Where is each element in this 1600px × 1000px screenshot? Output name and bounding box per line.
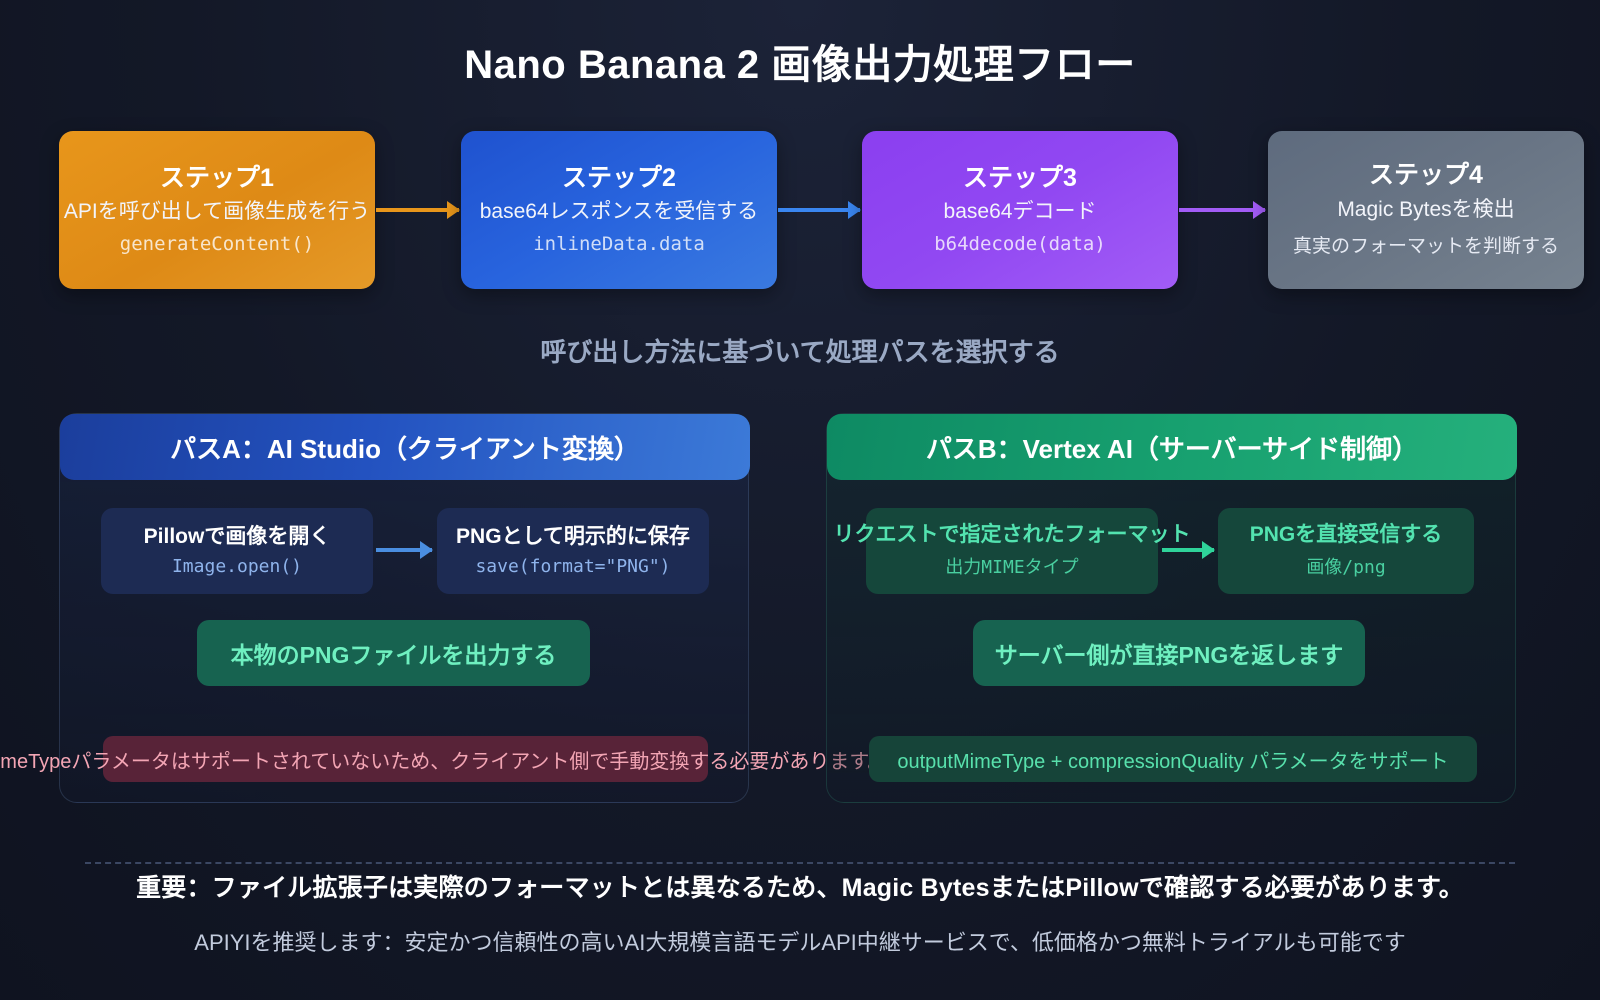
path-a-output-badge: 本物のPNGファイルを出力する (197, 620, 590, 686)
path-a-header: パスA：AI Studio（クライアント変換） (60, 414, 750, 480)
path-a-warning-text: outputMimeTypeパラメータはサポートされていないため、クライアント側… (0, 745, 887, 774)
page-title: Nano Banana 2 画像出力処理フロー (0, 32, 1600, 90)
path-a-box-2[interactable]: PNGとして明示的に保存 save(format="PNG") (437, 508, 709, 594)
footer-important-note: 重要：ファイル拡張子は実際のフォーマットとは異なるため、Magic Bytesま… (0, 868, 1600, 904)
path-b-box-2[interactable]: PNGを直接受信する 画像/png (1218, 508, 1474, 594)
arrow-step1-to-step2 (376, 208, 459, 212)
path-b-box-2-code: 画像/png (1306, 553, 1385, 579)
path-b-output-badge: サーバー側が直接PNGを返します (973, 620, 1365, 686)
arrow-step3-to-step4 (1179, 208, 1265, 212)
step-3-code: b64decode(data) (934, 233, 1106, 255)
path-b-support-note: outputMimeType + compressionQuality パラメー… (869, 736, 1477, 782)
path-b-panel: パスB：Vertex AI（サーバーサイド制御） リクエストで指定されたフォーマ… (826, 413, 1516, 803)
path-a-panel: パスA：AI Studio（クライアント変換） Pillowで画像を開く Ima… (59, 413, 749, 803)
path-a-box-1[interactable]: Pillowで画像を開く Image.open() (101, 508, 373, 594)
path-b-box-1-code: 出力MIMEタイプ (945, 553, 1078, 579)
branch-caption: 呼び出し方法に基づいて処理パスを選択する (0, 332, 1600, 369)
step-4-note: 真実のフォーマットを判断する (1293, 231, 1559, 258)
arrow-step2-to-step3 (778, 208, 860, 212)
footer-divider (85, 862, 1515, 864)
path-b-header: パスB：Vertex AI（サーバーサイド制御） (827, 414, 1517, 480)
step-2-title: ステップ2 (562, 165, 676, 193)
path-b-box-1[interactable]: リクエストで指定されたフォーマット 出力MIMEタイプ (866, 508, 1158, 594)
step-card-3[interactable]: ステップ3 base64デコード b64decode(data) (862, 131, 1178, 289)
path-b-box-2-title: PNGを直接受信する (1250, 523, 1443, 547)
path-a-box-2-title: PNGとして明示的に保存 (456, 525, 690, 549)
diagram-canvas: Nano Banana 2 画像出力処理フロー ステップ1 APIを呼び出して画… (0, 0, 1600, 1000)
step-1-title: ステップ1 (160, 165, 274, 193)
step-3-title: ステップ3 (963, 165, 1077, 193)
path-a-box-1-title: Pillowで画像を開く (144, 525, 331, 549)
step-3-description: base64デコード (944, 200, 1097, 223)
step-2-code: inlineData.data (533, 233, 705, 255)
step-flow-row: ステップ1 APIを呼び出して画像生成を行う generateContent()… (0, 131, 1600, 291)
step-card-2[interactable]: ステップ2 base64レスポンスを受信する inlineData.data (461, 131, 777, 289)
step-1-code: generateContent() (120, 233, 314, 255)
path-b-box-1-title: リクエストで指定されたフォーマット (834, 523, 1191, 547)
step-2-description: base64レスポンスを受信する (480, 200, 758, 223)
step-1-description: APIを呼び出して画像生成を行う (64, 200, 370, 223)
step-card-4[interactable]: ステップ4 Magic Bytesを検出 真実のフォーマットを判断する (1268, 131, 1584, 289)
arrow-path-a-box1-to-box2 (376, 548, 432, 552)
path-a-box-2-code: save(format="PNG") (475, 556, 670, 577)
path-a-warning-note: outputMimeTypeパラメータはサポートされていないため、クライアント側… (103, 736, 708, 782)
step-4-title: ステップ4 (1369, 162, 1483, 190)
arrow-path-b-box1-to-box2 (1162, 548, 1214, 552)
footer-promo-note: APIYIを推奨します：安定かつ信頼性の高いAI大規模言語モデルAPI中継サービ… (0, 925, 1600, 957)
step-card-1[interactable]: ステップ1 APIを呼び出して画像生成を行う generateContent() (59, 131, 375, 289)
step-4-description: Magic Bytesを検出 (1337, 198, 1514, 221)
path-a-box-1-code: Image.open() (172, 556, 302, 577)
